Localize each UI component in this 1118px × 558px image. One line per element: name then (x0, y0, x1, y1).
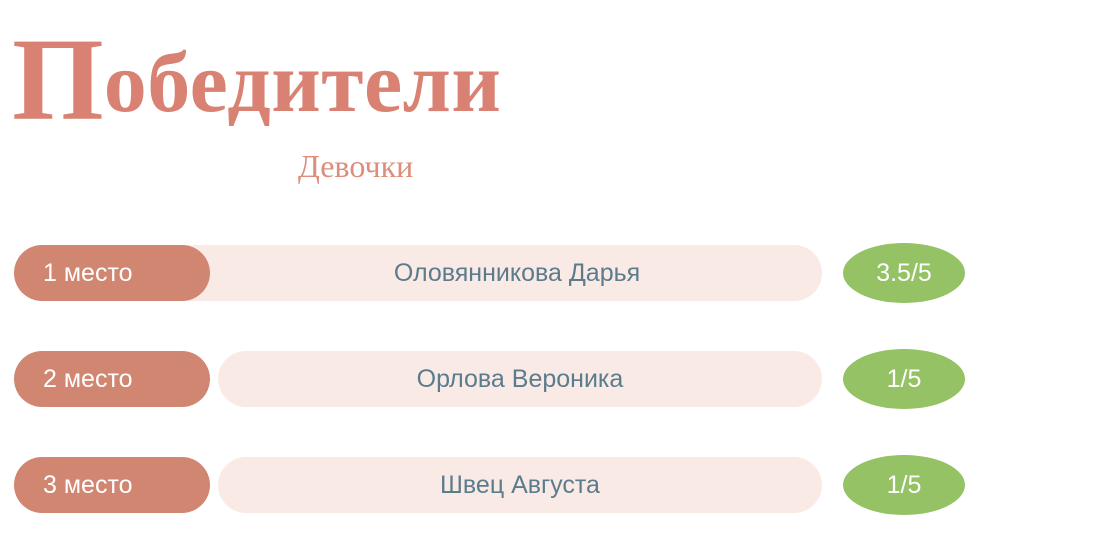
page-title-dropcap: П (12, 14, 104, 145)
winners-list: 1 место Оловянникова Дарья 3.5/5 2 место… (0, 240, 1118, 558)
page-title: Победители (12, 36, 501, 125)
winner-name-1: Оловянникова Дарья (180, 245, 822, 301)
winner-row: 2 место Орлова Вероника 1/5 (0, 346, 1118, 452)
page-subtitle: Девочки (298, 150, 413, 182)
score-badge-2: 1/5 (843, 349, 965, 409)
winner-name-3: Швец Августа (218, 457, 822, 513)
place-badge-2: 2 место (14, 351, 210, 407)
winner-name-2: Орлова Вероника (218, 351, 822, 407)
place-badge-3: 3 место (14, 457, 210, 513)
score-badge-1: 3.5/5 (843, 243, 965, 303)
winner-row: 3 место Швец Августа 1/5 (0, 452, 1118, 558)
score-badge-3: 1/5 (843, 455, 965, 515)
page-title-rest: обедители (104, 34, 502, 130)
place-badge-1: 1 место (14, 245, 210, 301)
winner-row: 1 место Оловянникова Дарья 3.5/5 (0, 240, 1118, 346)
page-header: Победители Девочки (0, 0, 1118, 200)
